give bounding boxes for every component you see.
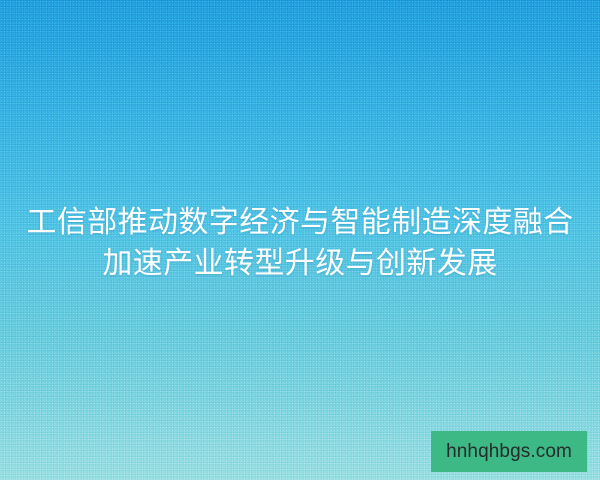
watermark-text: hnhqhbgs.com: [446, 442, 572, 461]
banner-graphic: 工信部推动数字经济与智能制造深度融合 加速产业转型升级与创新发展 hnhqhbg…: [0, 0, 600, 480]
watermark-badge: hnhqhbgs.com: [431, 431, 587, 472]
headline-line-2: 加速产业转型升级与创新发展: [0, 243, 600, 284]
headline: 工信部推动数字经济与智能制造深度融合 加速产业转型升级与创新发展: [0, 202, 600, 284]
headline-line-1: 工信部推动数字经济与智能制造深度融合: [0, 202, 600, 243]
